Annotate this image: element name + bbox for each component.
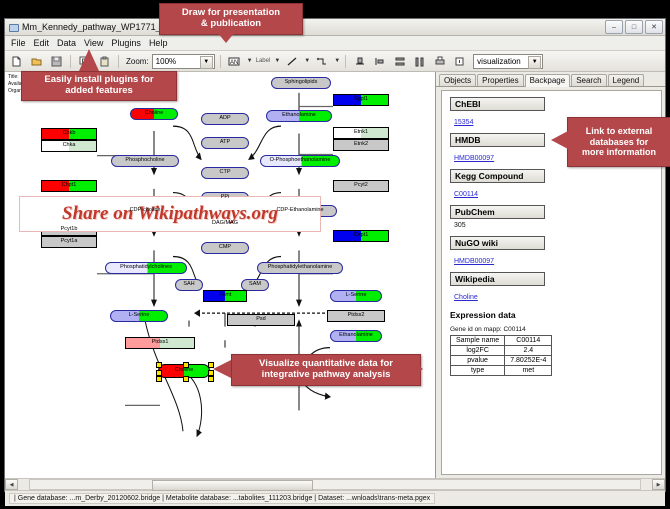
node-label: CDP-Ethanolamine bbox=[276, 208, 323, 214]
gene-node-pemt[interactable]: Pemt bbox=[203, 290, 247, 302]
expression-row-key: log2FC bbox=[451, 346, 505, 356]
node-label: CTP bbox=[220, 170, 231, 176]
share-banner-text: Share on Wikipathways.org bbox=[62, 203, 278, 225]
metabolite-node-phosphocholine[interactable]: Phosphocholine bbox=[111, 155, 179, 167]
scroll-left-icon[interactable]: ◀ bbox=[5, 479, 18, 490]
callout-visualize: Visualize quantitative data for integrat… bbox=[231, 354, 421, 386]
align-left-icon[interactable] bbox=[371, 53, 388, 70]
gene-id-line: Gene id on mapp: C00114 bbox=[450, 326, 661, 333]
menu-item-file[interactable]: File bbox=[11, 38, 26, 48]
node-label: L-Serine bbox=[129, 313, 150, 319]
gene-node-etnk1[interactable]: Etnk1 bbox=[333, 127, 389, 139]
expression-row-value: 7.80252E-4 bbox=[505, 356, 552, 366]
section-header-nugo: NuGO wiki bbox=[450, 236, 545, 250]
callout-draw: Draw for presentation & publication bbox=[159, 3, 303, 35]
node-label: Choline bbox=[145, 111, 164, 117]
metabolite-node-adp[interactable]: ADP bbox=[201, 113, 249, 125]
gene-node-psd[interactable]: Psd bbox=[227, 314, 295, 326]
callout-visualize-arrow-icon bbox=[213, 360, 231, 378]
selection-handle[interactable] bbox=[156, 362, 162, 368]
link-chebi[interactable]: 15354 bbox=[454, 119, 473, 126]
callout-draw-text: Draw for presentation & publication bbox=[182, 8, 280, 30]
metabolite-node-phosphatidylethanolamine[interactable]: Phosphatidylethanolamine bbox=[257, 262, 343, 274]
table-row: typemet bbox=[451, 366, 552, 376]
menu-item-view[interactable]: View bbox=[84, 38, 103, 48]
expression-row-value: met bbox=[505, 366, 552, 376]
line-icon[interactable] bbox=[283, 53, 300, 70]
expression-row-key: pvalue bbox=[451, 356, 505, 366]
print-icon[interactable] bbox=[431, 53, 448, 70]
title-bar: Mm_Kennedy_pathway_WP1771_45176.gpml – □… bbox=[5, 19, 665, 36]
node-label: Pcyt1b bbox=[61, 227, 78, 233]
node-label: Cept1 bbox=[354, 233, 369, 239]
expression-row-key: Sample name bbox=[451, 336, 505, 346]
tab-properties[interactable]: Properties bbox=[477, 74, 523, 86]
metabolite-node-o-phosphoethanolamine[interactable]: O-Phosphoethanolamine bbox=[260, 155, 340, 167]
metabolite-node-ethanolamine2[interactable]: Ethanolamine bbox=[330, 330, 382, 342]
label-tool-label: Label bbox=[256, 58, 271, 64]
expression-row-key: type bbox=[451, 366, 505, 376]
gene-node-chka[interactable]: Chka bbox=[41, 140, 97, 152]
tab-search[interactable]: Search bbox=[571, 74, 606, 86]
gene-node-pcyt1a[interactable]: Pcyt1a bbox=[41, 236, 97, 248]
node-label: ATP bbox=[220, 140, 230, 146]
toolbar-separator bbox=[70, 55, 71, 68]
metabolite-node-sphingolipids[interactable]: Sphingolipids bbox=[271, 77, 331, 89]
node-label: Chka bbox=[63, 143, 76, 149]
datanode-icon[interactable]: AN bbox=[226, 53, 243, 70]
node-label: CDP-choline bbox=[130, 208, 161, 214]
zoom-value: 100% bbox=[156, 57, 176, 66]
menu-bar: File Edit Data View Plugins Help bbox=[5, 36, 665, 51]
node-label: O-Phosphoethanolamine bbox=[270, 158, 331, 164]
node-label: Chpt1 bbox=[62, 183, 77, 189]
scroll-track[interactable] bbox=[29, 479, 641, 490]
status-bar: | Gene database: ...m_Derby_20120602.bri… bbox=[5, 490, 665, 506]
callout-visualize-arrow-right-icon bbox=[411, 360, 423, 378]
tab-objects[interactable]: Objects bbox=[439, 74, 476, 86]
window-controls: – □ ✕ bbox=[605, 20, 663, 34]
toolbar-separator bbox=[345, 55, 346, 68]
callout-plugins-arrow-icon bbox=[79, 49, 99, 71]
open-icon[interactable] bbox=[28, 53, 45, 70]
tab-backpage[interactable]: Backpage bbox=[525, 74, 571, 87]
node-label: Sphingolipids bbox=[285, 80, 318, 86]
save-icon[interactable] bbox=[48, 53, 65, 70]
gene-node-cept1[interactable]: Cept1 bbox=[333, 230, 389, 242]
expression-row-value: 2.4 bbox=[505, 346, 552, 356]
section-header-wikipedia: Wikipedia bbox=[450, 272, 545, 286]
application-window: Mm_Kennedy_pathway_WP1771_45176.gpml – □… bbox=[4, 18, 666, 492]
gene-node-chkb[interactable]: Chkb bbox=[41, 128, 97, 140]
node-label: Pcyt2 bbox=[354, 183, 368, 189]
node-label: Phosphatidylcholines bbox=[120, 265, 172, 271]
svg-text:AN: AN bbox=[230, 60, 238, 66]
expression-data-title: Expression data bbox=[450, 310, 661, 320]
visualization-select[interactable]: visualization ▼ bbox=[473, 54, 543, 69]
distribute-horizontal-icon[interactable] bbox=[411, 53, 428, 70]
tab-legend[interactable]: Legend bbox=[608, 74, 645, 86]
section-header-pubchem: PubChem bbox=[450, 205, 545, 219]
node-label: DAG/MAG bbox=[212, 221, 238, 227]
node-label: Choline bbox=[175, 368, 194, 374]
node-label: Phosphocholine bbox=[125, 158, 164, 164]
link-hmdb[interactable]: HMDB00097 bbox=[454, 155, 494, 162]
metabolite-node-choline-top[interactable]: Choline bbox=[130, 108, 178, 120]
scroll-thumb[interactable] bbox=[152, 480, 313, 491]
chevron-down-icon[interactable]: ▼ bbox=[200, 56, 213, 69]
section-header-kegg: Kegg Compound bbox=[450, 169, 545, 183]
distribute-vertical-icon[interactable] bbox=[391, 53, 408, 70]
node-label: Ethanolamine bbox=[282, 113, 316, 119]
selection-handle[interactable] bbox=[183, 376, 189, 382]
node-label: Ptdss2 bbox=[348, 313, 365, 319]
menu-item-edit[interactable]: Edit bbox=[34, 38, 50, 48]
metabolite-node-ethanolamine1[interactable]: Ethanolamine bbox=[266, 110, 332, 122]
metabolite-node-ctp[interactable]: CTP bbox=[201, 167, 249, 179]
horizontal-scrollbar[interactable]: ◀ ▶ bbox=[5, 478, 665, 490]
node-label: SAM bbox=[249, 282, 261, 288]
metabolite-node-choline-selected[interactable]: Choline bbox=[158, 364, 210, 378]
node-label: L-Serine bbox=[346, 293, 367, 299]
toolbar-separator bbox=[118, 55, 119, 68]
maximize-button[interactable]: □ bbox=[625, 20, 643, 34]
expression-row-value: C00114 bbox=[505, 336, 552, 346]
section-header-hmdb: HMDB bbox=[450, 133, 545, 147]
callout-plugins-text: Easily install plugins for added feature… bbox=[44, 75, 153, 97]
gene-node-sgpl1[interactable]: Sgpl1 bbox=[333, 94, 389, 106]
label-dropdown-icon[interactable]: ▼ bbox=[274, 58, 280, 64]
toolbar: Zoom: 100% ▼ AN ▼ Label ▼ ▼ ▼ bbox=[5, 51, 665, 72]
new-icon[interactable] bbox=[8, 53, 25, 70]
connector-icon[interactable] bbox=[313, 53, 330, 70]
table-row: Sample nameC00114 bbox=[451, 336, 552, 346]
pathway-canvas[interactable]: Title: Availa Organi bbox=[5, 72, 436, 478]
chevron-down-icon[interactable]: ▼ bbox=[528, 56, 541, 69]
link-kegg[interactable]: C00114 bbox=[454, 191, 478, 198]
visualization-value: visualization bbox=[477, 57, 521, 66]
metabolite-node-l-serine-right[interactable]: L-Serine bbox=[330, 290, 382, 302]
node-label: Etnk1 bbox=[354, 130, 368, 136]
node-label: Ethanolamine bbox=[339, 333, 373, 339]
align-top-icon[interactable] bbox=[351, 53, 368, 70]
app-icon bbox=[8, 22, 18, 32]
callout-draw-arrow-icon bbox=[217, 32, 235, 43]
callout-visualize-text: Visualize quantitative data for integrat… bbox=[259, 359, 393, 381]
node-label: ADP bbox=[219, 116, 230, 122]
link-nugo[interactable]: HMDB00097 bbox=[454, 258, 494, 265]
callout-link: Link to external databases for more info… bbox=[567, 117, 670, 167]
pathway-drawing[interactable]: Title: Availa Organi bbox=[5, 72, 435, 478]
gene-node-pcyt2[interactable]: Pcyt2 bbox=[333, 180, 389, 192]
line-dropdown-icon[interactable]: ▼ bbox=[304, 58, 310, 64]
datanode-dropdown-icon[interactable]: ▼ bbox=[247, 58, 253, 64]
menu-item-help[interactable]: Help bbox=[149, 38, 168, 48]
expression-table: Sample nameC00114log2FC2.4pvalue7.80252E… bbox=[450, 335, 552, 376]
callout-plugins: Easily install plugins for added feature… bbox=[21, 71, 177, 101]
toolbar-separator bbox=[220, 55, 221, 68]
metabolite-node-phosphatidylcholines[interactable]: Phosphatidylcholines bbox=[105, 262, 187, 274]
gene-node-chpt1[interactable]: Chpt1 bbox=[41, 180, 97, 192]
value-pubchem: 305 bbox=[454, 222, 661, 229]
gene-node-ptdss2[interactable]: Ptdss2 bbox=[327, 310, 385, 322]
metabolite-node-sah[interactable]: SAH bbox=[175, 279, 203, 291]
node-label: Etnk2 bbox=[354, 142, 368, 148]
gene-node-ptdss1[interactable]: Ptdss1 bbox=[125, 337, 195, 349]
node-label: Phosphatidylethanolamine bbox=[268, 265, 333, 271]
selection-handle[interactable] bbox=[183, 362, 189, 368]
menu-item-plugins[interactable]: Plugins bbox=[111, 38, 141, 48]
minimize-button[interactable]: – bbox=[605, 20, 623, 34]
node-label: Ptdss1 bbox=[152, 340, 169, 346]
table-row: pvalue7.80252E-4 bbox=[451, 356, 552, 366]
node-label: CMP bbox=[219, 245, 231, 251]
metabolite-node-l-serine-left[interactable]: L-Serine bbox=[110, 310, 168, 322]
metabolite-node-atp[interactable]: ATP bbox=[201, 137, 249, 149]
menu-item-data[interactable]: Data bbox=[57, 38, 76, 48]
scroll-right-icon[interactable]: ▶ bbox=[652, 479, 665, 490]
connector-dropdown-icon[interactable]: ▼ bbox=[334, 58, 340, 64]
node-label: Psd bbox=[256, 317, 265, 323]
node-label: Sgpl1 bbox=[354, 97, 368, 103]
node-label: Pcyt1a bbox=[61, 239, 78, 245]
info-icon[interactable] bbox=[451, 53, 468, 70]
table-row: log2FC2.4 bbox=[451, 346, 552, 356]
sidebar-tabs: Objects Properties Backpage Search Legen… bbox=[436, 72, 665, 87]
callout-link-text: Link to external databases for more info… bbox=[582, 126, 656, 157]
section-header-chebi: ChEBI bbox=[450, 97, 545, 111]
callout-link-arrow-icon bbox=[551, 131, 568, 149]
close-button[interactable]: ✕ bbox=[645, 20, 663, 34]
status-databases: | Gene database: ...m_Derby_20120602.bri… bbox=[9, 493, 435, 504]
zoom-select[interactable]: 100% ▼ bbox=[152, 54, 215, 69]
metabolite-node-cmp[interactable]: CMP bbox=[201, 242, 249, 254]
gene-node-etnk2[interactable]: Etnk2 bbox=[333, 139, 389, 151]
zoom-label: Zoom: bbox=[126, 57, 149, 66]
node-label: PPi bbox=[221, 195, 230, 201]
node-label: Pemt bbox=[219, 293, 232, 299]
node-label: SAH bbox=[183, 282, 194, 288]
node-label: Chkb bbox=[63, 131, 76, 137]
selection-handle[interactable] bbox=[156, 376, 162, 382]
link-wikipedia[interactable]: Choline bbox=[454, 294, 478, 301]
